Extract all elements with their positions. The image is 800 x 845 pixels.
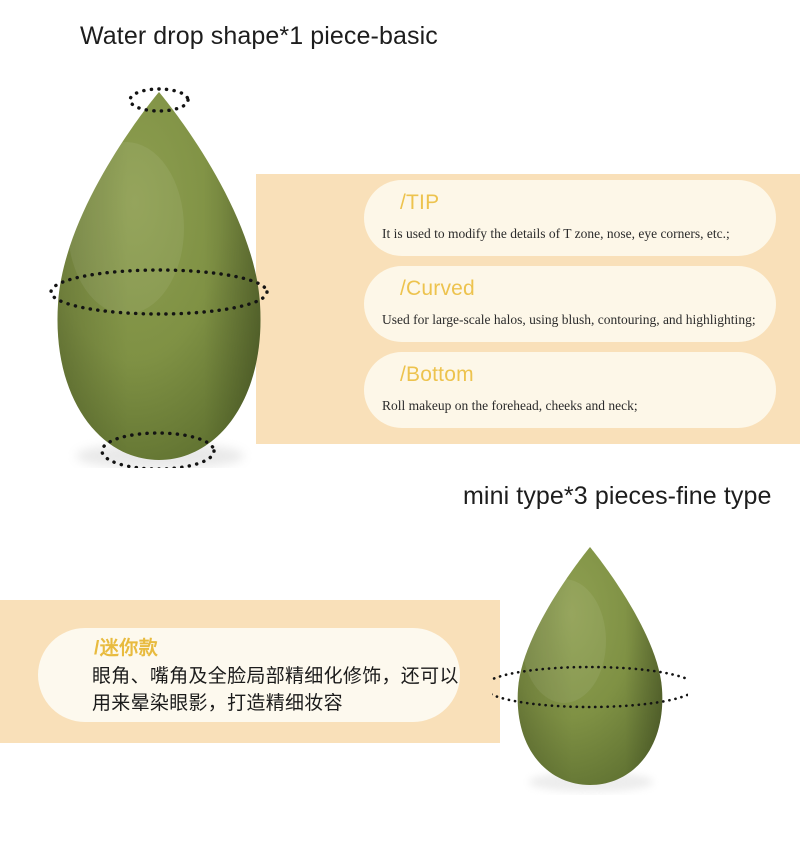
info-card-tip-label: /TIP [400,192,439,213]
info-card-bottom-label: /Bottom [400,364,474,385]
info-card-curved-description: Used for large-scale halos, using blush,… [382,312,762,329]
infographic-canvas: Water drop shape*1 piece-basic [0,0,800,845]
info-card-mini-label: /迷你款 [94,639,158,658]
info-card-tip-description: It is used to modify the details of T zo… [382,226,762,243]
info-card-curved: /Curved Used for large-scale halos, usin… [364,266,776,342]
info-card-mini-description: 眼角、嘴角及全脸局部精细化修饰，还可以 用来晕染眼影，打造精细妆容 [92,664,459,718]
info-card-mini: /迷你款 眼角、嘴角及全脸局部精细化修饰，还可以 用来晕染眼影，打造精细妆容 [38,628,460,722]
info-card-bottom: /Bottom Roll makeup on the forehead, che… [364,352,776,428]
teardrop-sponge-large [28,78,308,468]
sponge-body-mini [518,547,663,785]
bottom-section-heading: mini type*3 pieces-fine type [461,484,774,509]
info-card-tip: /TIP It is used to modify the details of… [364,180,776,256]
teardrop-sponge-mini [492,537,688,795]
info-card-curved-label: /Curved [400,278,475,299]
info-card-bottom-description: Roll makeup on the forehead, cheeks and … [382,398,762,415]
top-section-heading: Water drop shape*1 piece-basic [78,24,440,49]
